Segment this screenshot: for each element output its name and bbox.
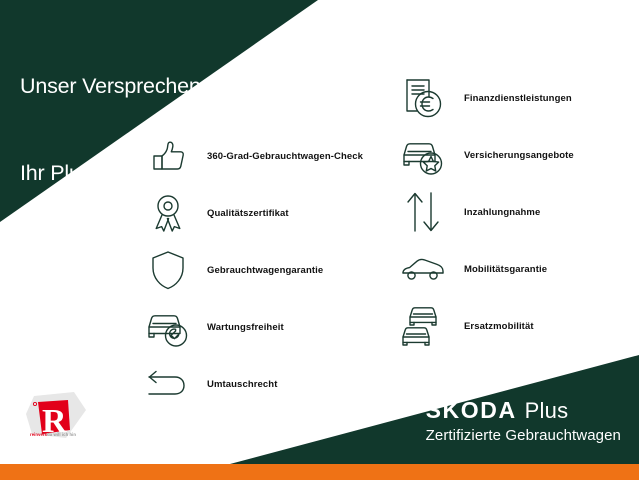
feature-item: Inzahlungnahme <box>400 184 574 240</box>
dealer-tagline-rest: da will ich hin <box>47 432 76 437</box>
feature-label: 360-Grad-Gebrauchtwagen-Check <box>207 151 363 162</box>
feature-column-left: 360-Grad-Gebrauchtwagen-Check Qualitätsz… <box>145 128 363 413</box>
car-side-icon <box>400 246 446 292</box>
skoda-wordmark: ŠKODA <box>426 399 517 422</box>
feature-label: Gebrauchtwagengarantie <box>207 265 323 276</box>
two-cars-icon <box>400 303 446 349</box>
feature-label: Ersatzmobilität <box>464 321 534 332</box>
feature-item: Wartungsfreiheit <box>145 299 363 355</box>
feature-label: Wartungsfreiheit <box>207 322 284 333</box>
dealer-tagline: reinversda will ich hin <box>30 432 76 437</box>
feature-label: Versicherungsangebote <box>464 150 574 161</box>
return-arrow-icon <box>145 361 191 407</box>
arrows-up-down-icon <box>400 189 446 235</box>
feature-item: Qualitätszertifikat <box>145 185 363 241</box>
promo-banner: Unser Versprechen. Ihr Plus. 360-Grad-Ge… <box>0 0 639 480</box>
thumbs-up-icon <box>145 133 191 179</box>
feature-item: Umtauschrecht <box>145 356 363 412</box>
feature-item: Ersatzmobilität <box>400 298 574 354</box>
bottom-orange-bar <box>0 464 639 480</box>
feature-label: Mobilitätsgarantie <box>464 264 547 275</box>
feature-label: Qualitätszertifikat <box>207 208 289 219</box>
car-star-icon <box>400 132 446 178</box>
skoda-logo-top-row: ŠKODA Plus <box>426 399 621 422</box>
award-rosette-icon <box>145 190 191 236</box>
feature-item: Finanzdienstleistungen <box>400 70 574 126</box>
feature-item: Mobilitätsgarantie <box>400 241 574 297</box>
headline-line-1: Unser Versprechen. <box>20 72 310 101</box>
feature-item: Gebrauchtwagengarantie <box>145 242 363 298</box>
feature-item: Versicherungsangebote <box>400 127 574 183</box>
shield-icon <box>145 247 191 293</box>
feature-item: 360-Grad-Gebrauchtwagen-Check <box>145 128 363 184</box>
document-euro-icon <box>400 75 446 121</box>
skoda-plus-suffix: Plus <box>525 400 569 422</box>
feature-label: Inzahlungnahme <box>464 207 540 218</box>
feature-label: Finanzdienstleistungen <box>464 93 572 104</box>
dealer-tagline-name: reinvers <box>30 432 47 437</box>
skoda-plus-logo: ŠKODA Plus Zertifizierte Gebrauchtwagen <box>426 399 621 444</box>
feature-label: Umtauschrecht <box>207 379 277 390</box>
skoda-tagline: Zertifizierte Gebrauchtwagen <box>426 427 621 444</box>
feature-column-right: Finanzdienstleistungen Versicherungsange… <box>400 70 574 355</box>
car-wrench-icon <box>145 304 191 350</box>
dealer-logo: R <box>22 390 114 450</box>
